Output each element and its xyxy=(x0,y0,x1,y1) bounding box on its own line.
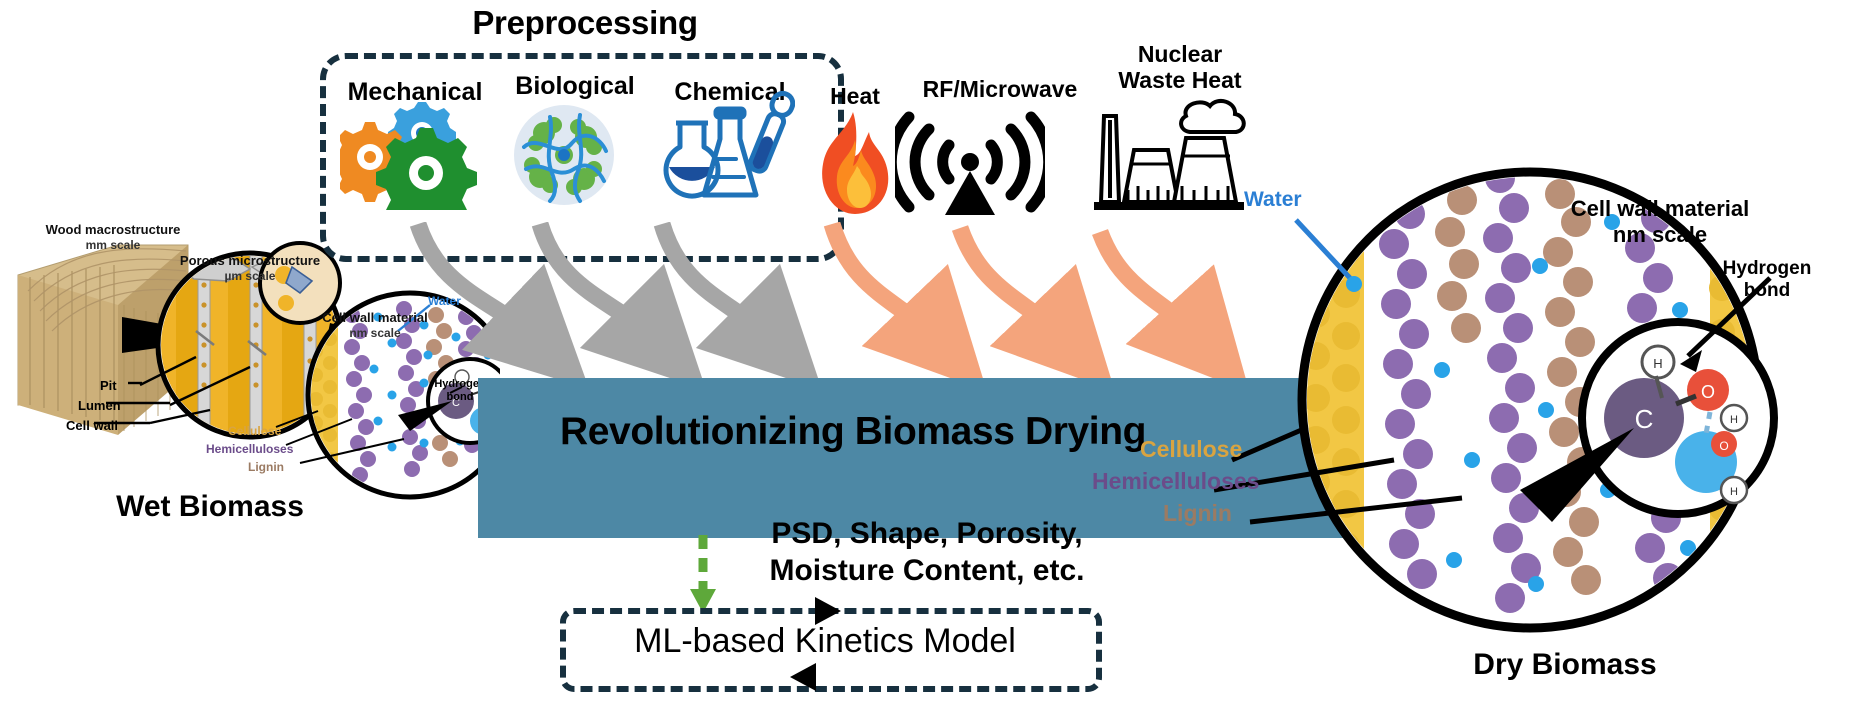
gears-icon xyxy=(340,100,490,210)
hydrogen-bond-right-line1: Hydrogen xyxy=(1712,258,1822,280)
pit-label: Pit xyxy=(100,378,117,393)
outputs-line2: Moisture Content, etc. xyxy=(712,552,1142,589)
wood-macrostructure-label: Wood macrostructure mm scale xyxy=(18,222,208,252)
hemicelluloses-label-right: Hemicelluloses xyxy=(1092,468,1259,495)
preprocessing-label-biological: Biological xyxy=(495,72,655,101)
microbe-sphere-icon xyxy=(510,103,618,208)
preprocessing-arrows-group xyxy=(400,222,1260,387)
svg-text:O: O xyxy=(1719,439,1728,453)
svg-text:H: H xyxy=(1730,486,1738,498)
porous-microstructure-line1: Porous microstructure xyxy=(160,253,340,269)
svg-text:H: H xyxy=(1653,356,1662,371)
orange-arrows xyxy=(832,224,1204,342)
lignin-label-left: Lignin xyxy=(248,460,284,474)
flame-icon xyxy=(805,110,901,216)
hemicelluloses-label-left: Hemicelluloses xyxy=(206,442,293,456)
lumen-label: Lumen xyxy=(78,398,121,413)
porous-microstructure-label: Porous microstructure µm scale xyxy=(160,253,340,283)
hydrogen-bond-right-line2: bond xyxy=(1712,280,1822,302)
water-leader-line-right xyxy=(1296,220,1350,278)
porous-microstructure-line2: µm scale xyxy=(160,269,340,283)
energy-label-nuclear-waste-heat: Nuclear Waste Heat xyxy=(1085,42,1275,94)
svg-text:H: H xyxy=(1730,414,1738,426)
cell-wall-material-right-line1: Cell wall material xyxy=(1540,196,1780,222)
dry-biomass-caption: Dry Biomass xyxy=(1400,648,1730,682)
grey-arrows xyxy=(418,224,774,342)
cellulose-label-left: Cellulose xyxy=(228,424,281,438)
wet-biomass-caption: Wet Biomass xyxy=(50,490,370,524)
svg-text:C: C xyxy=(1635,404,1654,434)
lignin-label-right: Lignin xyxy=(1163,500,1232,527)
nuclear-label-line1: Nuclear xyxy=(1085,42,1275,68)
antenna-signal-icon xyxy=(895,105,1045,215)
ml-box-arrow-top-icon xyxy=(815,597,841,625)
ml-box-arrow-bottom-icon xyxy=(790,663,816,691)
nuclear-label-line2: Waste Heat xyxy=(1085,68,1275,94)
ml-model-label: ML-based Kinetics Model xyxy=(560,622,1090,661)
cell-wall-material-label-right: Cell wall material nm scale xyxy=(1540,196,1780,249)
preprocessing-title: Preprocessing xyxy=(455,4,715,42)
cell-wall-label: Cell wall xyxy=(66,418,118,433)
flask-dropper-icon xyxy=(660,85,795,210)
cell-wall-material-right-line2: nm scale xyxy=(1540,222,1780,248)
main-arrow-title: Revolutionizing Biomass Drying xyxy=(560,410,1180,454)
svg-text:O: O xyxy=(1701,382,1715,402)
cellulose-label-right: Cellulose xyxy=(1140,436,1242,463)
energy-label-rf-microwave: RF/Microwave xyxy=(890,76,1110,103)
outputs-text: PSD, Shape, Porosity, Moisture Content, … xyxy=(712,515,1142,589)
water-label-right: Water xyxy=(1244,188,1302,212)
outputs-line1: PSD, Shape, Porosity, xyxy=(712,515,1142,552)
hydrogen-bond-label-right: Hydrogen bond xyxy=(1712,258,1822,302)
hydrogen-bond-inset-right: C O O H H H xyxy=(1582,322,1774,514)
wood-macrostructure-line1: Wood macrostructure xyxy=(18,222,208,238)
wood-macrostructure-line2: mm scale xyxy=(18,238,208,252)
